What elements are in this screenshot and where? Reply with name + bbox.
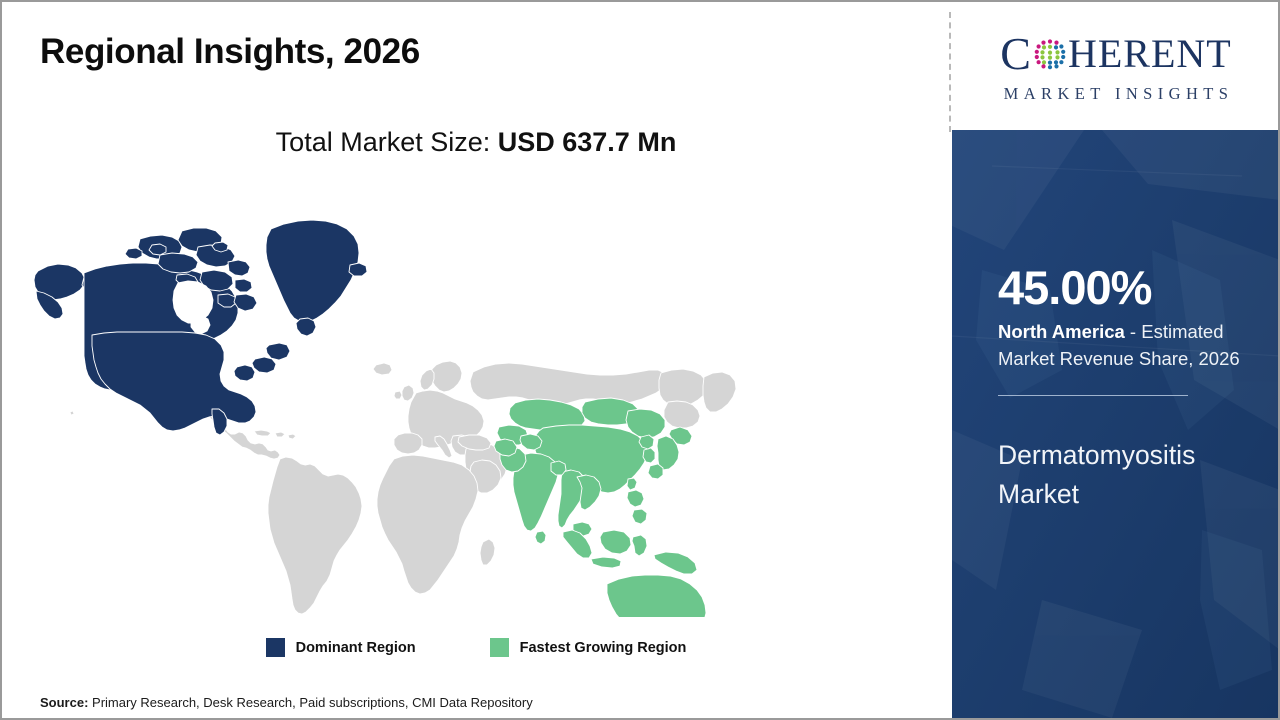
logo-wordmark: C: [1000, 31, 1231, 77]
map-legend: Dominant Region Fastest Growing Region: [2, 638, 950, 657]
source-text: Primary Research, Desk Research, Paid su…: [88, 695, 532, 710]
total-market-size-label: Total Market Size:: [276, 127, 498, 157]
legend-item-dominant: Dominant Region: [266, 638, 416, 657]
stat-region-name: North America: [998, 321, 1125, 342]
logo-letter-c: C: [1000, 31, 1032, 77]
navy-square-icon: [266, 638, 285, 657]
world-map-container: [32, 187, 842, 617]
coherent-market-insights-logo: C: [952, 4, 1280, 130]
source-note: Source: Primary Research, Desk Research,…: [40, 695, 533, 710]
panel-divider-rule: [998, 395, 1188, 396]
legend-item-fastest-growing: Fastest Growing Region: [490, 638, 687, 657]
total-market-size-value: USD 637.7 Mn: [498, 127, 677, 157]
total-market-size-line: Total Market Size: USD 637.7 Mn: [2, 127, 950, 158]
green-square-icon: [490, 638, 509, 657]
market-name: Dermatomyositis Market: [998, 436, 1266, 516]
panel-content: 45.00% North America - Estimated Market …: [998, 264, 1266, 515]
dotted-sphere-icon: [1033, 37, 1067, 71]
vertical-dashed-divider: [949, 12, 951, 132]
logo-letters-herent: HERENT: [1068, 34, 1232, 74]
map-region-asia-pacific: [494, 398, 752, 617]
regional-stat-panel: 45.00% North America - Estimated Market …: [952, 130, 1280, 718]
infographic-slide: Regional Insights, 2026 Total Market Siz…: [0, 0, 1280, 720]
world-map: [32, 187, 842, 617]
left-content-pane: Regional Insights, 2026 Total Market Siz…: [2, 2, 950, 718]
logo-tagline: MARKET INSIGHTS: [999, 84, 1234, 104]
source-label: Source:: [40, 695, 88, 710]
map-speck: [70, 411, 74, 415]
stat-percentage: 45.00%: [998, 264, 1266, 313]
map-region-north-america: [34, 220, 367, 435]
legend-label-fastest-growing: Fastest Growing Region: [520, 640, 687, 656]
legend-label-dominant: Dominant Region: [296, 640, 416, 656]
page-title: Regional Insights, 2026: [40, 32, 420, 72]
stat-description: North America - Estimated Market Revenue…: [998, 319, 1266, 373]
